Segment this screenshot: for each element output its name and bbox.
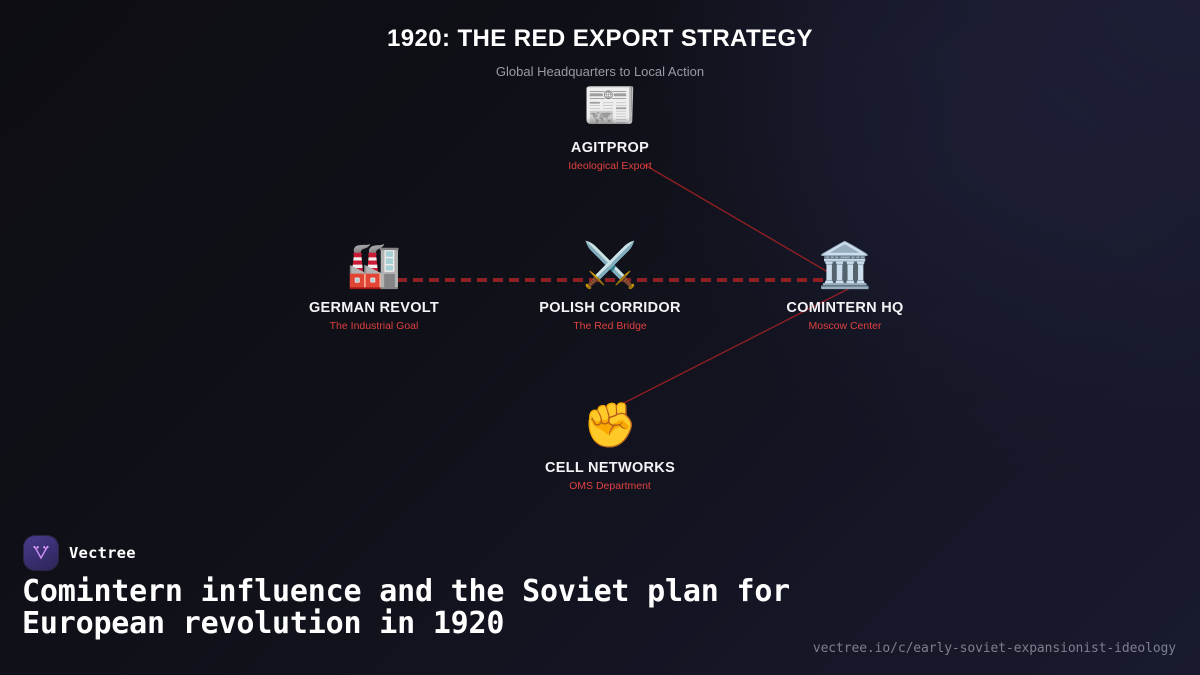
node-title: COMINTERN HQ <box>735 300 955 316</box>
footer: Vectree Comintern influence and the Sovi… <box>0 500 1200 675</box>
crossed-swords-icon: ⚔️ <box>500 238 720 294</box>
node-german[interactable]: 🏭GERMAN REVOLTThe Industrial Goal <box>264 238 484 332</box>
node-subtitle: The Red Bridge <box>500 320 720 332</box>
source-url: vectree.io/c/early-soviet-expansionist-i… <box>813 641 1176 656</box>
node-subtitle: OMS Department <box>500 480 720 492</box>
node-cell[interactable]: ✊CELL NETWORKSOMS Department <box>500 398 720 492</box>
diagram-canvas: 1920: THE RED EXPORT STRATEGY Global Hea… <box>0 0 1200 675</box>
node-subtitle: The Industrial Goal <box>264 320 484 332</box>
node-polish[interactable]: ⚔️POLISH CORRIDORThe Red Bridge <box>500 238 720 332</box>
brand: Vectree <box>24 536 136 570</box>
raised-fist-icon: ✊ <box>500 398 720 454</box>
headline: Comintern influence and the Soviet plan … <box>22 576 812 639</box>
factory-icon: 🏭 <box>264 238 484 294</box>
node-agitprop[interactable]: 📰AGITPROPIdeological Export <box>500 78 720 172</box>
node-subtitle: Moscow Center <box>735 320 955 332</box>
node-title: GERMAN REVOLT <box>264 300 484 316</box>
brand-name: Vectree <box>69 544 136 562</box>
vectree-logo-icon <box>24 536 58 570</box>
node-subtitle: Ideological Export <box>500 160 720 172</box>
newspaper-icon: 📰 <box>500 78 720 134</box>
node-title: POLISH CORRIDOR <box>500 300 720 316</box>
node-title: AGITPROP <box>500 140 720 156</box>
classical-building-icon: 🏛️ <box>735 238 955 294</box>
node-comintern[interactable]: 🏛️COMINTERN HQMoscow Center <box>735 238 955 332</box>
node-title: CELL NETWORKS <box>500 460 720 476</box>
